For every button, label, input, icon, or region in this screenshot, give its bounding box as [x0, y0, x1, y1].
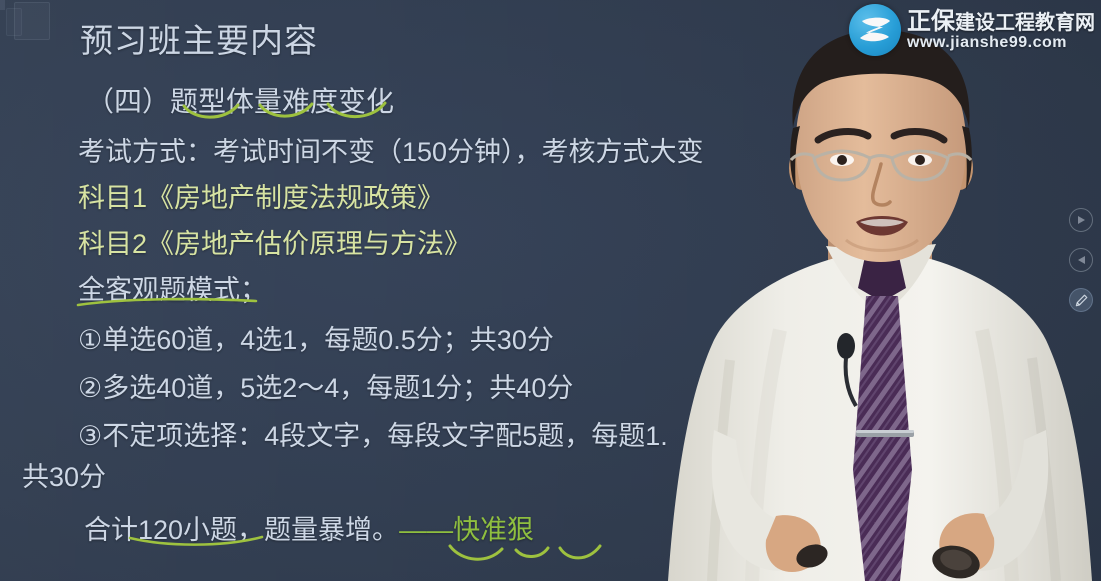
slide-subtitle: （四）题型体量难度变化 — [86, 80, 394, 120]
pen-annotate-button[interactable] — [1069, 288, 1093, 312]
board-edge-tick — [0, 0, 5, 10]
pen-icon — [1075, 294, 1088, 307]
total-line-accent: 快准狠 — [453, 515, 534, 545]
play-forward-button[interactable] — [1069, 208, 1093, 232]
total-line-dash: —— — [399, 515, 453, 545]
subject-1-line: 科目1《房地产制度法规政策》 — [78, 176, 444, 215]
bullet-multiple-choice: ②多选40道，5选2～4，每题1分；共40分 — [78, 366, 573, 405]
corner-artifact-primary — [14, 2, 50, 40]
logo-site-name-rest: 建设工程教育网 — [955, 12, 1095, 34]
video-lecture-frame: 预习班主要内容 （四）题型体量难度变化 考试方式：考试时间不变（150分钟），考… — [0, 0, 1101, 581]
bullet-single-choice: ①单选60道，4选1，每题0.5分；共30分 — [78, 318, 554, 357]
site-watermark-logo: 正保建设工程教育网 www.jianshe99.com — [849, 4, 1095, 56]
bullet-indefinite-choice-continued: 共30分 — [22, 455, 106, 494]
presenter-video-figure — [660, 0, 1101, 581]
logo-text-block: 正保建设工程教育网 www.jianshe99.com — [907, 9, 1095, 52]
subject-2-line: 科目2《房地产估价原理与方法》 — [78, 222, 471, 261]
question-mode-line: 全客观题模式； — [78, 268, 267, 307]
slide-title: 预习班主要内容 — [80, 14, 318, 62]
logo-site-url: www.jianshe99.com — [907, 35, 1095, 52]
bullet-indefinite-choice: ③不定项选择：4段文字，每段文字配5题，每题1. — [78, 414, 668, 453]
zhengbao-z-logo-icon — [849, 4, 901, 56]
logo-site-name-brand: 正保 — [907, 8, 955, 35]
logo-site-name: 正保建设工程教育网 — [907, 9, 1095, 34]
total-line: 合计120小题，题量暴增。——快准狠 — [84, 508, 534, 547]
exam-method-line: 考试方式：考试时间不变（150分钟），考核方式大变 — [78, 130, 704, 169]
play-triangle-left-icon — [1077, 255, 1086, 265]
step-back-button[interactable] — [1069, 248, 1093, 272]
play-triangle-right-icon — [1077, 215, 1086, 225]
total-line-text: 合计120小题，题量暴增。 — [84, 515, 399, 545]
